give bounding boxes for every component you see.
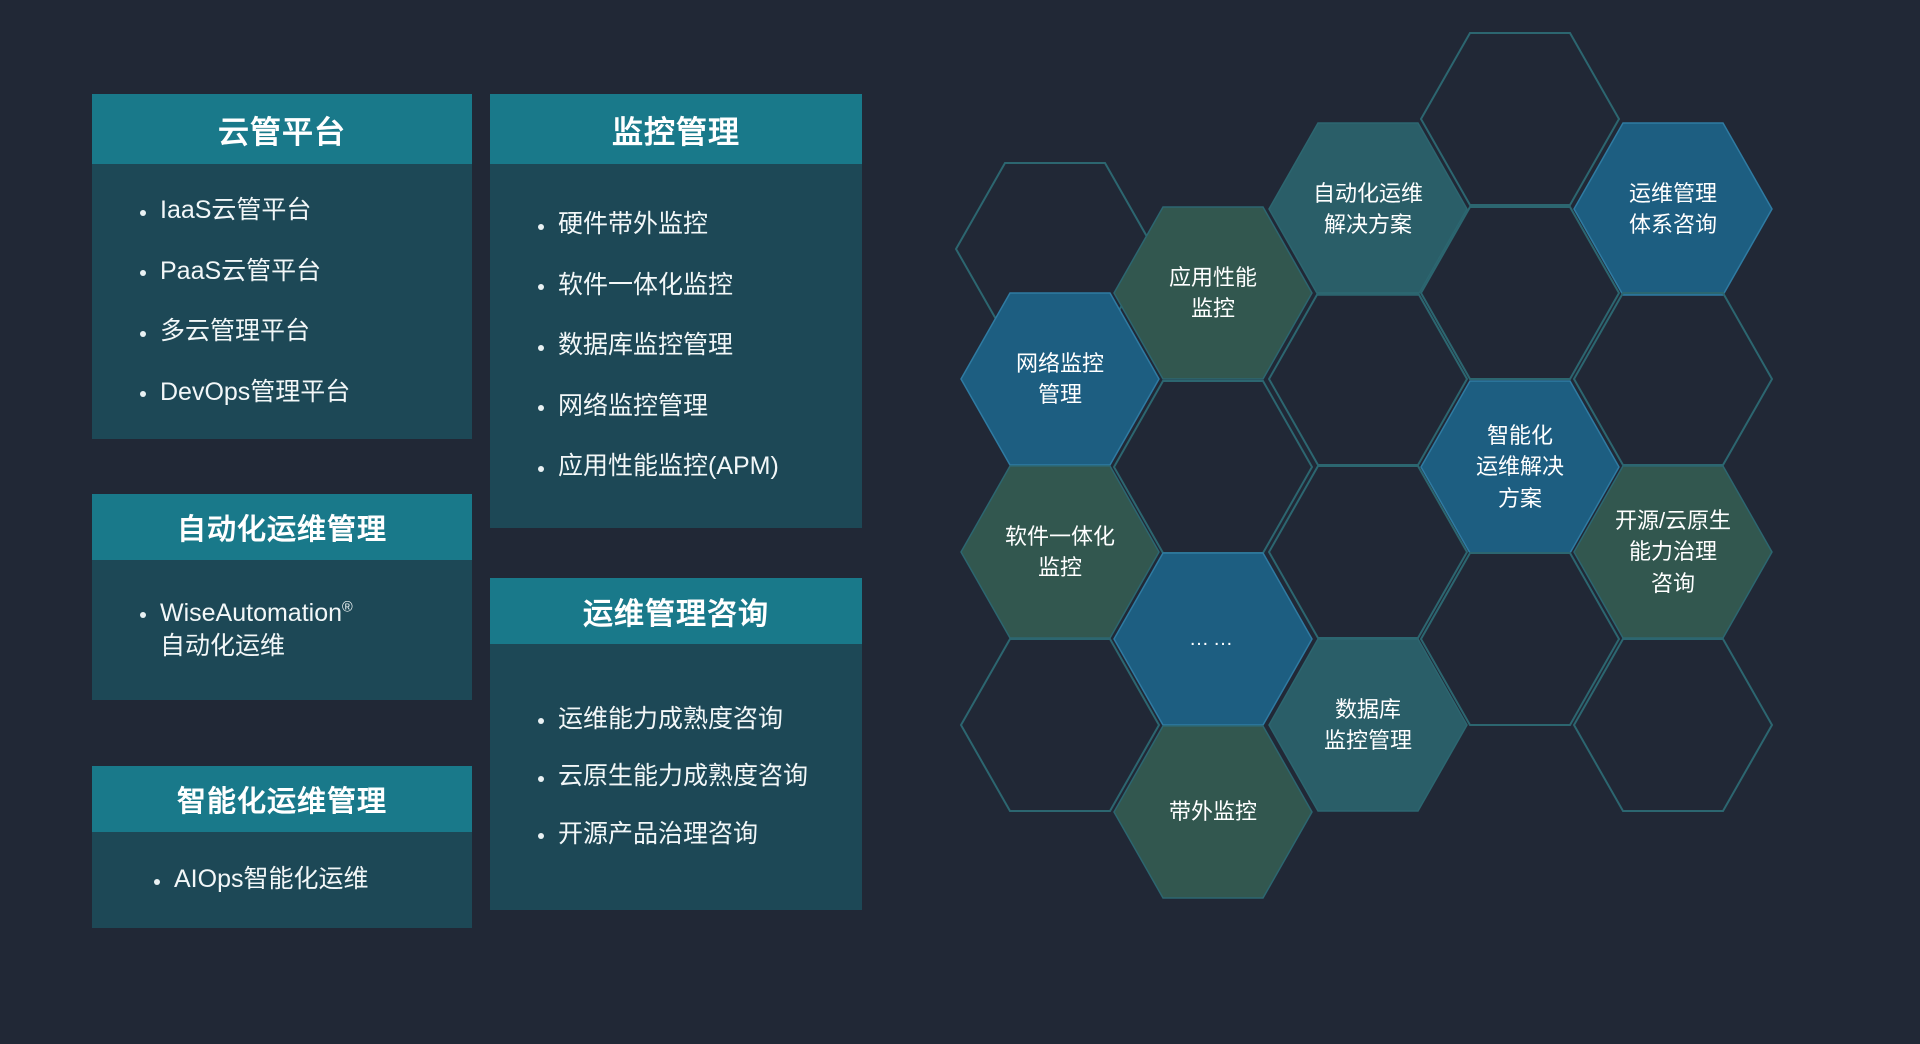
hexagon-shape	[1573, 638, 1773, 812]
slide-canvas: 云管平台 IaaS云管平台 PaaS云管平台 多云管理平台 DevOps管理平台…	[0, 0, 1920, 1044]
hexagon-node[interactable]: 带外监控	[1113, 725, 1313, 899]
hexagon-shape	[1113, 725, 1313, 899]
hexagon-mesh-diagram: 应用性能监控自动化运维解决方案运维管理体系咨询网络监控管理智能化运维解决方案软件…	[0, 0, 1920, 1044]
hexagon-node-empty	[1573, 638, 1773, 812]
